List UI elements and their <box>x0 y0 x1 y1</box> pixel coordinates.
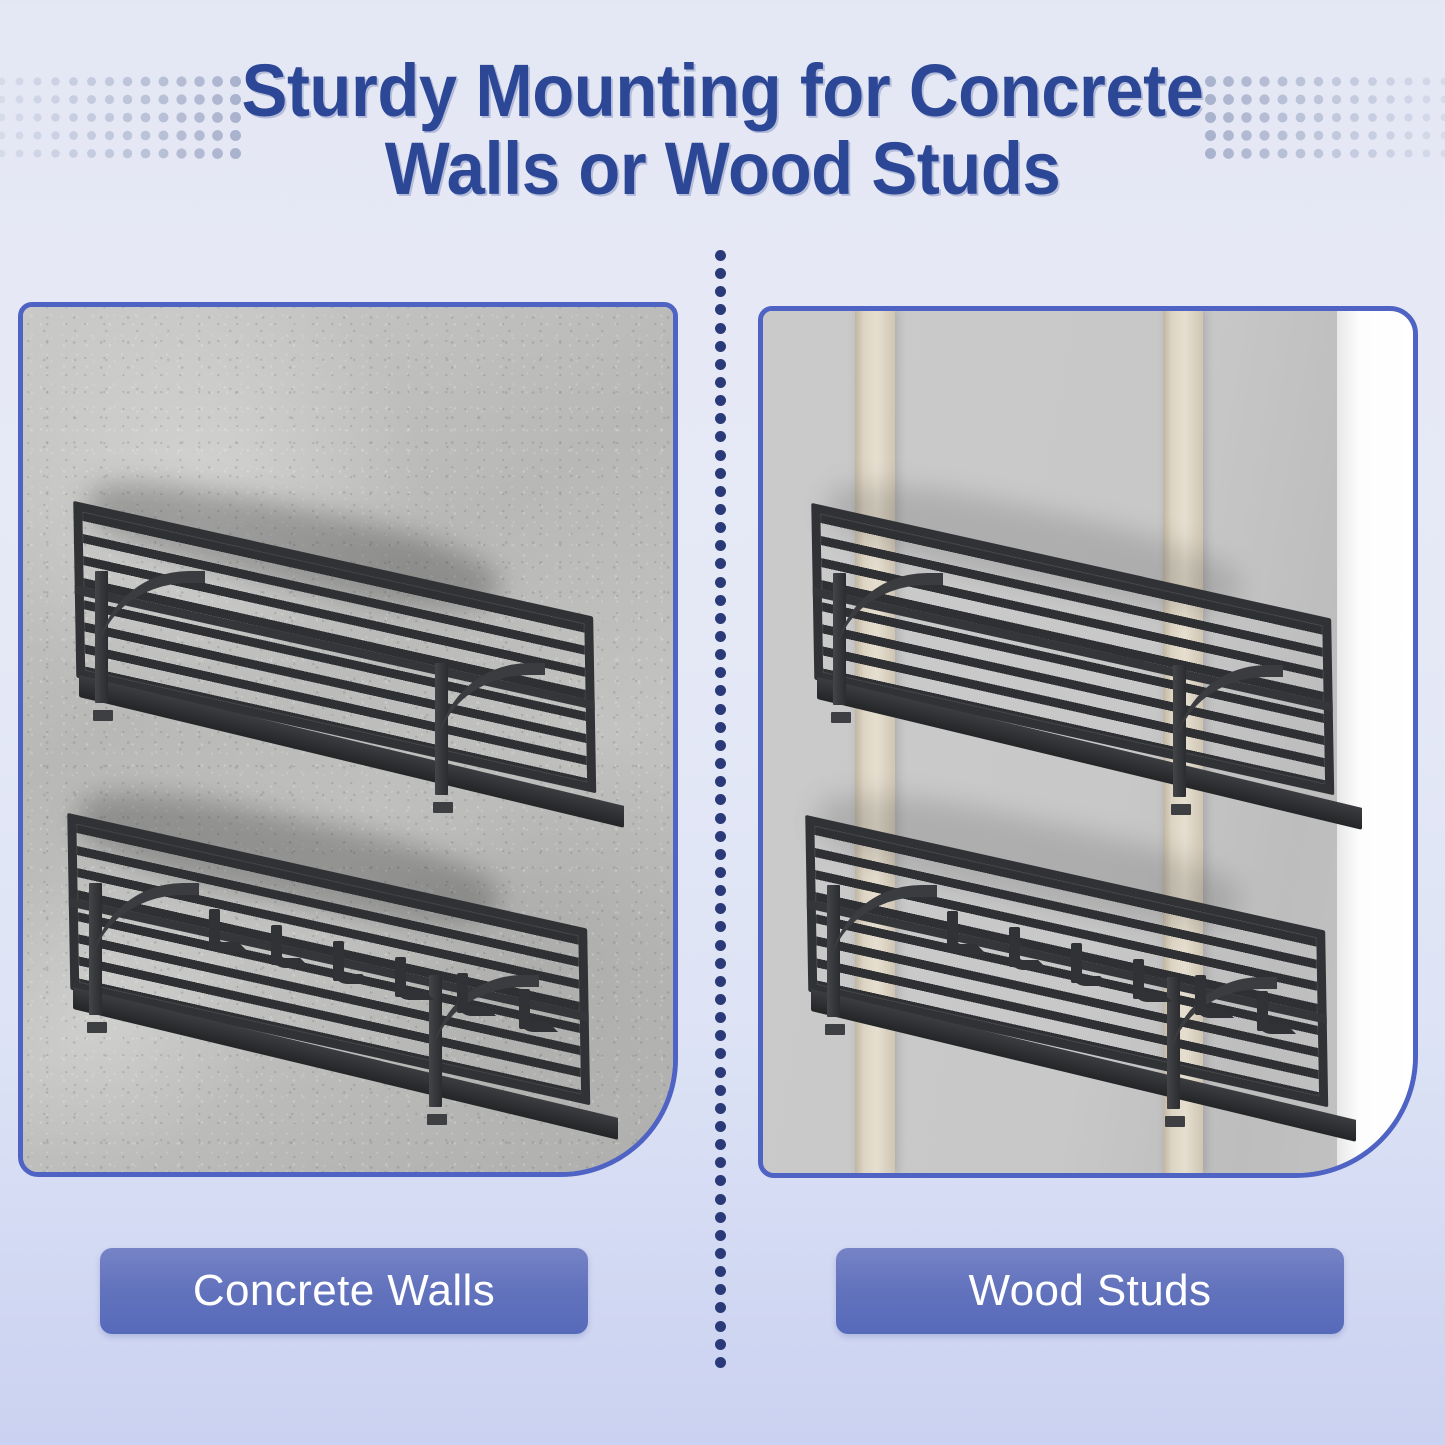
divider-dot <box>715 468 726 479</box>
bracket-brace <box>1175 665 1283 785</box>
shelf-hook <box>457 973 468 1013</box>
divider-dot <box>715 522 726 533</box>
divider-dot <box>715 776 726 787</box>
divider-dot <box>715 1157 726 1168</box>
divider-dot <box>715 1321 726 1332</box>
divider-dot <box>715 958 726 969</box>
divider-dot <box>715 1085 726 1096</box>
divider-dot <box>715 831 726 842</box>
divider-dot <box>715 631 726 642</box>
divider-dot <box>715 304 726 315</box>
shelf-hook <box>519 989 530 1029</box>
bracket-brace <box>91 883 199 1003</box>
divider-dot <box>715 758 726 769</box>
title-line-2: Walls or Wood Studs <box>51 130 1395 208</box>
title-line-1: Sturdy Mounting for Concrete <box>51 52 1395 130</box>
bracket-brace <box>97 571 205 691</box>
shelf-hook <box>1009 927 1020 967</box>
divider-dot <box>715 885 726 896</box>
divider-dot <box>715 1357 726 1368</box>
concrete-wall-photo <box>18 302 678 1177</box>
shelf-bracket <box>833 573 951 723</box>
shelf-hook <box>1257 991 1268 1031</box>
divider-dot <box>715 577 726 588</box>
divider-dot <box>715 1302 726 1313</box>
divider-dot <box>715 341 726 352</box>
bracket-brace <box>437 663 545 783</box>
divider-dot <box>715 486 726 497</box>
divider-dot <box>715 1012 726 1023</box>
divider-dot <box>715 250 726 261</box>
upper-shelf <box>65 485 625 785</box>
divider-dot <box>715 867 726 878</box>
divider-dot <box>715 1067 726 1078</box>
divider-dot <box>715 940 726 951</box>
lower-shelf <box>797 799 1357 1099</box>
caption-label: Concrete Walls <box>193 1266 495 1316</box>
shelf-hook <box>947 911 958 951</box>
page-title: Sturdy Mounting for Concrete Walls or Wo… <box>0 52 1445 208</box>
divider-dot <box>715 921 726 932</box>
shelf-bracket <box>95 571 213 721</box>
shelf-hook <box>1133 959 1144 999</box>
divider-dot <box>715 1212 726 1223</box>
divider-dot <box>715 794 726 805</box>
divider-dot <box>715 1139 726 1150</box>
shelf-hook <box>395 957 406 997</box>
shelf-hook <box>1195 975 1206 1015</box>
divider-dot <box>715 413 726 424</box>
divider-dot <box>715 1048 726 1059</box>
bracket-foot <box>825 1024 845 1035</box>
bracket-foot <box>1165 1116 1185 1127</box>
shelf-bracket <box>1173 665 1291 815</box>
caption-label: Wood Studs <box>969 1266 1212 1316</box>
shelf-bracket <box>89 883 207 1033</box>
divider-dot <box>715 595 726 606</box>
divider-dot <box>715 1030 726 1041</box>
divider-dot <box>715 740 726 751</box>
divider-dot <box>715 359 726 370</box>
divider-dot <box>715 994 726 1005</box>
bracket-foot <box>87 1022 107 1033</box>
divider-dot <box>715 1284 726 1295</box>
divider-dot <box>715 903 726 914</box>
divider-dot <box>715 613 726 624</box>
shelf-hook <box>333 941 344 981</box>
caption-wood-studs: Wood Studs <box>836 1248 1344 1334</box>
divider-dot <box>715 1230 726 1241</box>
lower-shelf <box>59 797 619 1097</box>
divider-dot <box>715 268 726 279</box>
divider-dot <box>715 813 726 824</box>
divider-dot <box>715 558 726 569</box>
divider-dot <box>715 540 726 551</box>
divider-dot <box>715 377 726 388</box>
divider-dot <box>715 1103 726 1114</box>
divider-dot <box>715 704 726 715</box>
bracket-foot <box>93 710 113 721</box>
divider-dot <box>715 504 726 515</box>
divider-dot <box>715 1339 726 1350</box>
dotted-divider <box>715 250 727 1375</box>
divider-dot <box>715 685 726 696</box>
bracket-brace <box>835 573 943 693</box>
upper-shelf <box>803 487 1363 787</box>
divider-dot <box>715 450 726 461</box>
bracket-foot <box>831 712 851 723</box>
divider-dot <box>715 1175 726 1186</box>
divider-dot <box>715 286 726 297</box>
divider-dot <box>715 1194 726 1205</box>
divider-dot <box>715 395 726 406</box>
divider-dot <box>715 1121 726 1132</box>
shelf-hook <box>271 925 282 965</box>
divider-dot <box>715 849 726 860</box>
shelf-bracket <box>827 885 945 1035</box>
divider-dot <box>715 649 726 660</box>
bracket-foot <box>427 1114 447 1125</box>
bracket-brace <box>829 885 937 1005</box>
divider-dot <box>715 431 726 442</box>
divider-dot <box>715 976 726 987</box>
divider-dot <box>715 1266 726 1277</box>
shelf-hook <box>209 909 220 949</box>
caption-concrete-walls: Concrete Walls <box>100 1248 588 1334</box>
wood-stud-wall-photo <box>758 306 1418 1178</box>
divider-dot <box>715 323 726 334</box>
divider-dot <box>715 722 726 733</box>
shelf-bracket <box>435 663 553 813</box>
shelf-hook <box>1071 943 1082 983</box>
divider-dot <box>715 667 726 678</box>
divider-dot <box>715 1248 726 1259</box>
